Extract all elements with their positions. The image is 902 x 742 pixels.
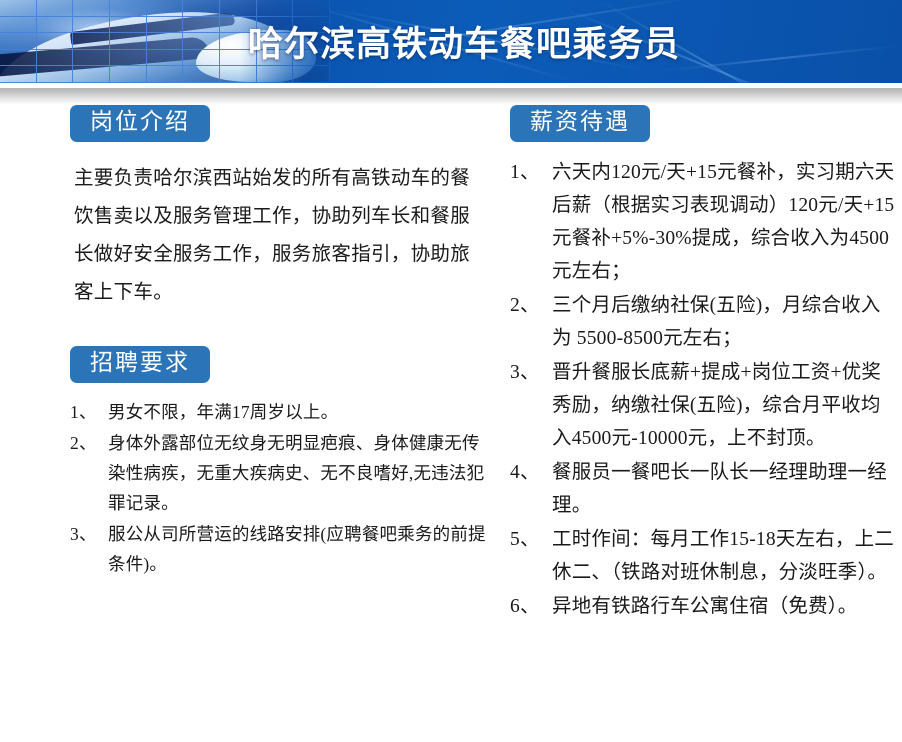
list-item-text: 服公从司所营运的线路安排(应聘餐吧乘务的前提条件)。 (108, 524, 486, 574)
list-item-text: 晋升餐服长底薪+提成+岗位工资+优奖秀励，纳缴社保(五险)，综合月平收均入450… (552, 362, 881, 449)
right-column: 薪资待遇 1、 六天内120元/天+15元餐补，实习期六天后薪（根据实习表现调动… (510, 105, 895, 624)
content-area: 岗位介绍 主要负责哈尔滨西站始发的所有高铁动车的餐饮售卖以及服务管理工作，协助列… (0, 105, 902, 742)
list-item-number: 5、 (510, 523, 548, 556)
page-title: 哈尔滨高铁动车餐吧乘务员 (0, 0, 902, 83)
list-item-text: 异地有铁路行车公寓住宿（免费）。 (552, 596, 857, 617)
list-item-text: 餐服员一餐吧长一队长一经理助理一经理。 (552, 462, 887, 516)
list-item: 4、 餐服员一餐吧长一队长一经理助理一经理。 (510, 456, 895, 522)
list-item: 3、 晋升餐服长底薪+提成+岗位工资+优奖秀励，纳缴社保(五险)，综合月平收均入… (510, 356, 895, 455)
list-item-text: 男女不限，年满17周岁以上。 (108, 402, 338, 422)
list-item-number: 1、 (70, 397, 104, 427)
list-item-number: 3、 (510, 356, 548, 389)
section-heading-requirements: 招聘要求 (70, 346, 210, 383)
list-item-number: 1、 (510, 156, 548, 189)
requirements-list: 1、 男女不限，年满17周岁以上。 2、 身体外露部位无纹身无明显疤痕、身体健康… (70, 397, 490, 579)
salary-list: 1、 六天内120元/天+15元餐补，实习期六天后薪（根据实习表现调动）120元… (510, 156, 895, 623)
list-item: 2、 身体外露部位无纹身无明显疤痕、身体健康无传染性病疾，无重大疾病史、无不良嗜… (70, 428, 490, 518)
list-item-text: 三个月后缴纳社保(五险)，月综合收入为 5500-8500元左右； (552, 295, 881, 349)
section-heading-salary: 薪资待遇 (510, 105, 650, 142)
list-item: 2、 三个月后缴纳社保(五险)，月综合收入为 5500-8500元左右； (510, 289, 895, 355)
list-item-number: 4、 (510, 456, 548, 489)
list-item-text: 工时作间：每月工作15-18天左右，上二休二、（铁路对班休制息，分淡旺季）。 (552, 529, 894, 583)
list-item-number: 3、 (70, 519, 104, 549)
page-header-banner: 哈尔滨高铁动车餐吧乘务员 (0, 0, 902, 83)
list-item-number: 6、 (510, 590, 548, 623)
list-item: 6、 异地有铁路行车公寓住宿（免费）。 (510, 590, 895, 623)
list-item-number: 2、 (510, 289, 548, 322)
list-item: 1、 男女不限，年满17周岁以上。 (70, 397, 490, 427)
list-item-text: 六天内120元/天+15元餐补，实习期六天后薪（根据实习表现调动）120元/天+… (552, 162, 894, 282)
banner-bottom-shadow (0, 88, 902, 105)
section-heading-job-intro: 岗位介绍 (70, 105, 210, 142)
list-item: 1、 六天内120元/天+15元餐补，实习期六天后薪（根据实习表现调动）120元… (510, 156, 895, 288)
list-item-text: 身体外露部位无纹身无明显疤痕、身体健康无传染性病疾，无重大疾病史、无不良嗜好,无… (108, 433, 484, 513)
job-intro-paragraph: 主要负责哈尔滨西站始发的所有高铁动车的餐饮售卖以及服务管理工作，协助列车长和餐服… (74, 160, 484, 312)
list-item: 5、 工时作间：每月工作15-18天左右，上二休二、（铁路对班休制息，分淡旺季）… (510, 523, 895, 589)
list-item-number: 2、 (70, 428, 104, 458)
left-column: 岗位介绍 主要负责哈尔滨西站始发的所有高铁动车的餐饮售卖以及服务管理工作，协助列… (70, 105, 490, 580)
list-item: 3、 服公从司所营运的线路安排(应聘餐吧乘务的前提条件)。 (70, 519, 490, 579)
